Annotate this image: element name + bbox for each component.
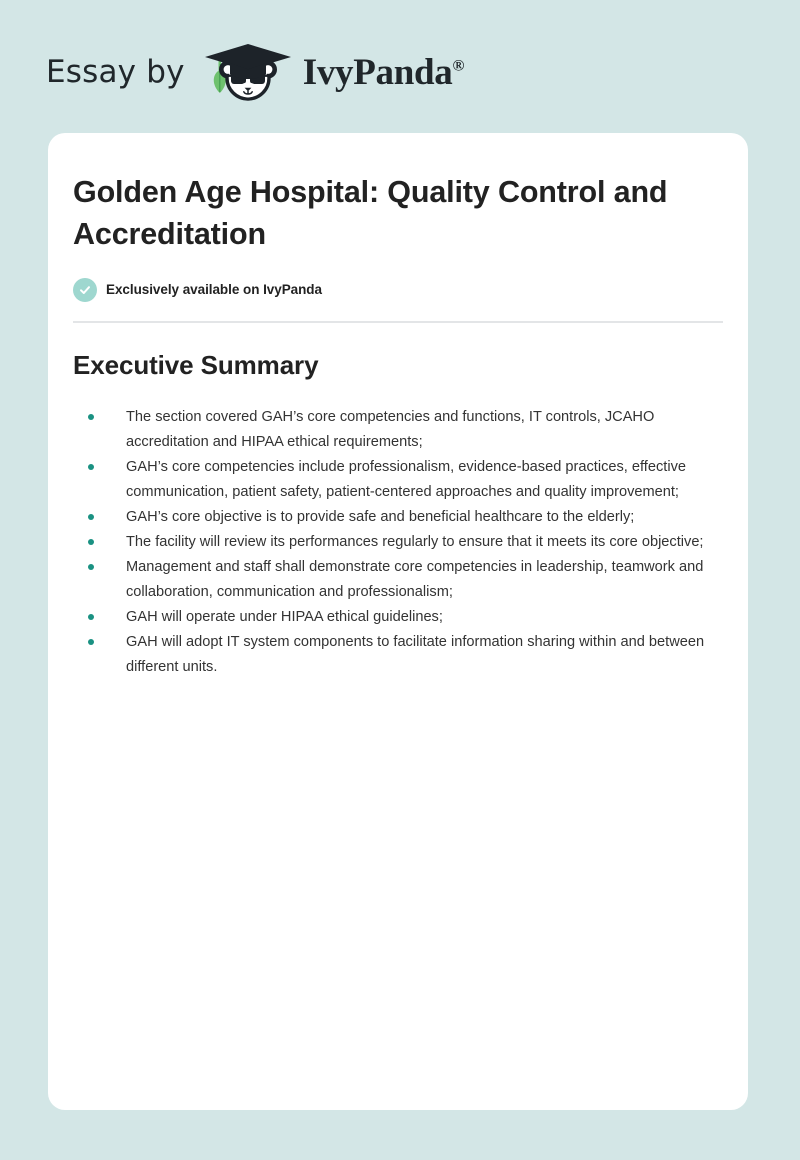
list-item-text: GAH will adopt IT system components to f… xyxy=(126,634,704,675)
bullet-icon xyxy=(88,414,94,420)
section-heading: Executive Summary xyxy=(73,349,723,383)
list-item: The section covered GAH’s core competenc… xyxy=(73,405,723,455)
list-item: Management and staff shall demonstrate c… xyxy=(73,555,723,605)
list-item-text: Management and staff shall demonstrate c… xyxy=(126,559,703,600)
list-item: GAH will operate under HIPAA ethical gui… xyxy=(73,605,723,630)
page-title: Golden Age Hospital: Quality Control and… xyxy=(73,171,693,256)
list-item: GAH will adopt IT system components to f… xyxy=(73,630,723,680)
bullet-icon xyxy=(88,514,94,520)
document-card: Golden Age Hospital: Quality Control and… xyxy=(48,133,748,1110)
bullet-icon xyxy=(88,614,94,620)
bullet-icon xyxy=(88,564,94,570)
title-divider xyxy=(73,321,723,323)
list-item-text: The section covered GAH’s core competenc… xyxy=(126,409,654,450)
status-badge-label: Exclusively available on IvyPanda xyxy=(106,282,322,297)
ivypanda-panda-graduate-logo-icon xyxy=(199,41,295,103)
executive-summary-list: The section covered GAH’s core competenc… xyxy=(73,405,723,680)
list-item-text: The facility will review its performance… xyxy=(126,534,704,550)
list-item-text: GAH’s core objective is to provide safe … xyxy=(126,509,634,525)
brand-header: Essay by xyxy=(46,42,464,102)
bullet-icon xyxy=(88,539,94,545)
brand-name-text: IvyPanda xyxy=(303,52,453,93)
bullet-icon xyxy=(88,464,94,470)
ivypanda-logo[interactable]: IvyPanda® xyxy=(199,41,464,103)
list-item: GAH’s core competencies include professi… xyxy=(73,455,723,505)
list-item-text: GAH will operate under HIPAA ethical gui… xyxy=(126,609,443,625)
list-item: GAH’s core objective is to provide safe … xyxy=(73,505,723,530)
list-item-text: GAH’s core competencies include professi… xyxy=(126,459,686,500)
registered-trademark-icon: ® xyxy=(452,57,464,74)
status-badge: Exclusively available on IvyPanda xyxy=(73,278,723,302)
brand-wordmark: IvyPanda® xyxy=(303,54,464,91)
check-circle-icon xyxy=(73,278,97,302)
bullet-icon xyxy=(88,639,94,645)
essay-by-label: Essay by xyxy=(46,57,185,88)
list-item: The facility will review its performance… xyxy=(73,530,723,555)
